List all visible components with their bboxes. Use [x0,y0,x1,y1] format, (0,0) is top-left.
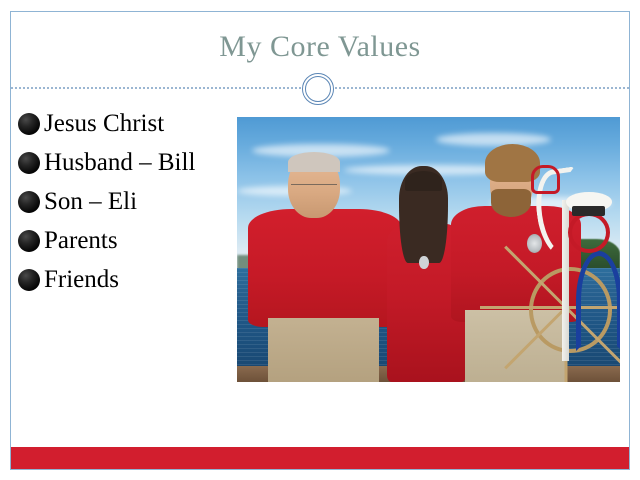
list-item: Husband – Bill [18,143,234,182]
photo-pants [268,318,378,382]
circle-ornament-icon [302,73,334,105]
red-hand-ornament [531,165,561,195]
list-item-label: Friends [44,266,119,294]
bottom-accent-bar [11,447,629,469]
bullet-icon [18,191,40,213]
list-item: Friends [18,260,234,299]
list-item: Son – Eli [18,182,234,221]
photo-bangs [405,171,442,192]
photo-hair [288,152,340,173]
bullet-icon [18,269,40,291]
page-title: My Core Values [11,30,629,64]
bullet-icon [18,113,40,135]
blue-railing [576,251,620,351]
hat-band [572,206,605,216]
list-item-label: Son – Eli [44,188,137,216]
list-item-label: Parents [44,227,118,255]
list-item-label: Husband – Bill [44,149,195,177]
list-item-label: Jesus Christ [44,110,164,138]
bullet-icon [18,230,40,252]
bullet-icon [18,152,40,174]
photo-pelican-sculpture [517,165,617,361]
photo-brooch [419,256,428,269]
list-item: Jesus Christ [18,104,234,143]
core-values-list: Jesus Christ Husband – Bill Son – Eli Pa… [18,104,234,299]
list-item: Parents [18,221,234,260]
slide: My Core Values Jesus Christ Husband – Bi… [0,0,640,480]
photo-glasses [291,184,337,194]
family-photo [237,117,620,382]
wheel-spoke [481,306,567,309]
pelican-collar [568,212,610,253]
